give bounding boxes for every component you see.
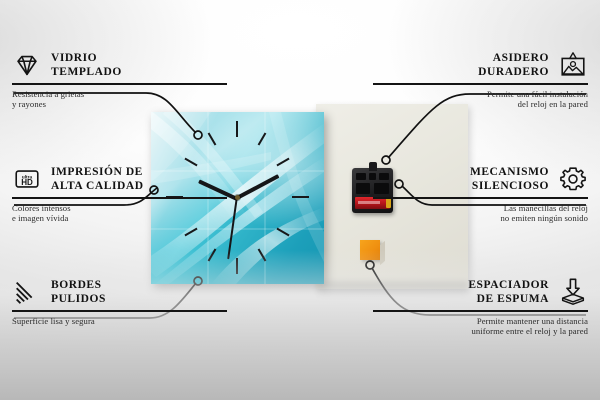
ultra-hd-icon-large-text: HD (21, 178, 33, 187)
diamond-icon (12, 50, 42, 80)
feature-description: Las manecillas del reloj no emiten ningú… (373, 203, 588, 224)
feature-header: VIDRIO TEMPLADO (12, 50, 227, 80)
feature-mecanismo-silencioso: MECANISMO SILENCIOSO Las manecillas del … (373, 164, 588, 224)
feature-bordes-pulidos: BORDES PULIDOS Superficie lisa y segura (12, 277, 227, 326)
feature-desc-line1: Superficie lisa y segura (12, 316, 227, 327)
feature-title-line2: DURADERO (478, 65, 549, 80)
feature-title-line1: ESPACIADOR (468, 278, 549, 293)
feature-title-line1: ASIDERO (478, 51, 549, 66)
infographic-canvas: VIDRIO TEMPLADO Resistencia a grietas y … (0, 0, 600, 400)
feature-desc-line2: e imagen vívida (12, 213, 227, 224)
mechanism-vent-4 (356, 183, 370, 194)
feature-description: Resistencia a grietas y rayones (12, 89, 227, 110)
feature-title-line2: PULIDOS (51, 292, 106, 307)
feature-divider (12, 310, 227, 312)
feature-asidero-duradero: ASIDERO DURADERO Permite una fácil insta… (373, 50, 588, 110)
gear-icon (558, 164, 588, 194)
feature-description: Permite una fácil instalación del reloj … (373, 89, 588, 110)
feature-title: MECANISMO SILENCIOSO (470, 165, 549, 194)
clock-tick-12 (236, 121, 238, 137)
feature-header: ASIDERO DURADERO (373, 50, 588, 80)
mechanism-vent-1 (356, 173, 366, 180)
feature-description: Superficie lisa y segura (12, 316, 227, 327)
feature-title-line2: TEMPLADO (51, 65, 122, 80)
feature-desc-line2: y rayones (12, 99, 227, 110)
feature-desc-line1: Permite una fácil instalación (373, 89, 588, 100)
feature-title-line1: IMPRESIÓN DE (51, 165, 144, 180)
ultra-hd-icon: ultra HD (12, 164, 42, 194)
feature-title-line2: ALTA CALIDAD (51, 179, 144, 194)
foam-spacer-side (380, 241, 385, 265)
feature-description: Colores intensos e imagen vívida (12, 203, 227, 224)
feature-title-line1: VIDRIO (51, 51, 122, 66)
feature-desc-line2: uniforme entre el reloj y la pared (373, 326, 588, 337)
press-down-icon (558, 277, 588, 307)
feature-header: BORDES PULIDOS (12, 277, 227, 307)
feature-title: ESPACIADOR DE ESPUMA (468, 278, 549, 307)
clock-tick-6 (236, 258, 238, 274)
feature-desc-line2: del reloj en la pared (373, 99, 588, 110)
feature-title: BORDES PULIDOS (51, 278, 106, 307)
feature-divider (12, 83, 227, 85)
feature-header: MECANISMO SILENCIOSO (373, 164, 588, 194)
polished-edges-icon (12, 277, 42, 307)
feature-desc-line1: Las manecillas del reloj (373, 203, 588, 214)
feature-divider (373, 83, 588, 85)
feature-impresion-alta-calidad: ultra HD IMPRESIÓN DE ALTA CALIDAD Color… (12, 164, 227, 224)
clock-center-pin (235, 195, 240, 200)
feature-desc-line2: no emiten ningún sonido (373, 213, 588, 224)
clock-panel-seam-h2 (151, 228, 324, 230)
feature-title-line1: MECANISMO (470, 165, 549, 180)
feature-divider (373, 197, 588, 199)
hanging-frame-icon (558, 50, 588, 80)
feature-title-line1: BORDES (51, 278, 106, 293)
feature-desc-line1: Permite mantener una distancia (373, 316, 588, 327)
feature-header: ESPACIADOR DE ESPUMA (373, 277, 588, 307)
feature-desc-line1: Resistencia a grietas (12, 89, 227, 100)
feature-title-line2: SILENCIOSO (470, 179, 549, 194)
feature-description: Permite mantener una distancia uniforme … (373, 316, 588, 337)
feature-title: ASIDERO DURADERO (478, 51, 549, 80)
foam-spacer (360, 240, 380, 260)
clock-tick-3 (292, 196, 309, 198)
feature-title: IMPRESIÓN DE ALTA CALIDAD (51, 165, 144, 194)
feature-divider (12, 197, 227, 199)
feature-header: ultra HD IMPRESIÓN DE ALTA CALIDAD (12, 164, 227, 194)
feature-vidrio-templado: VIDRIO TEMPLADO Resistencia a grietas y … (12, 50, 227, 110)
feature-title: VIDRIO TEMPLADO (51, 51, 122, 80)
feature-espaciador-de-espuma: ESPACIADOR DE ESPUMA Permite mantener un… (373, 277, 588, 337)
feature-desc-line1: Colores intensos (12, 203, 227, 214)
feature-divider (373, 310, 588, 312)
feature-title-line2: DE ESPUMA (468, 292, 549, 307)
